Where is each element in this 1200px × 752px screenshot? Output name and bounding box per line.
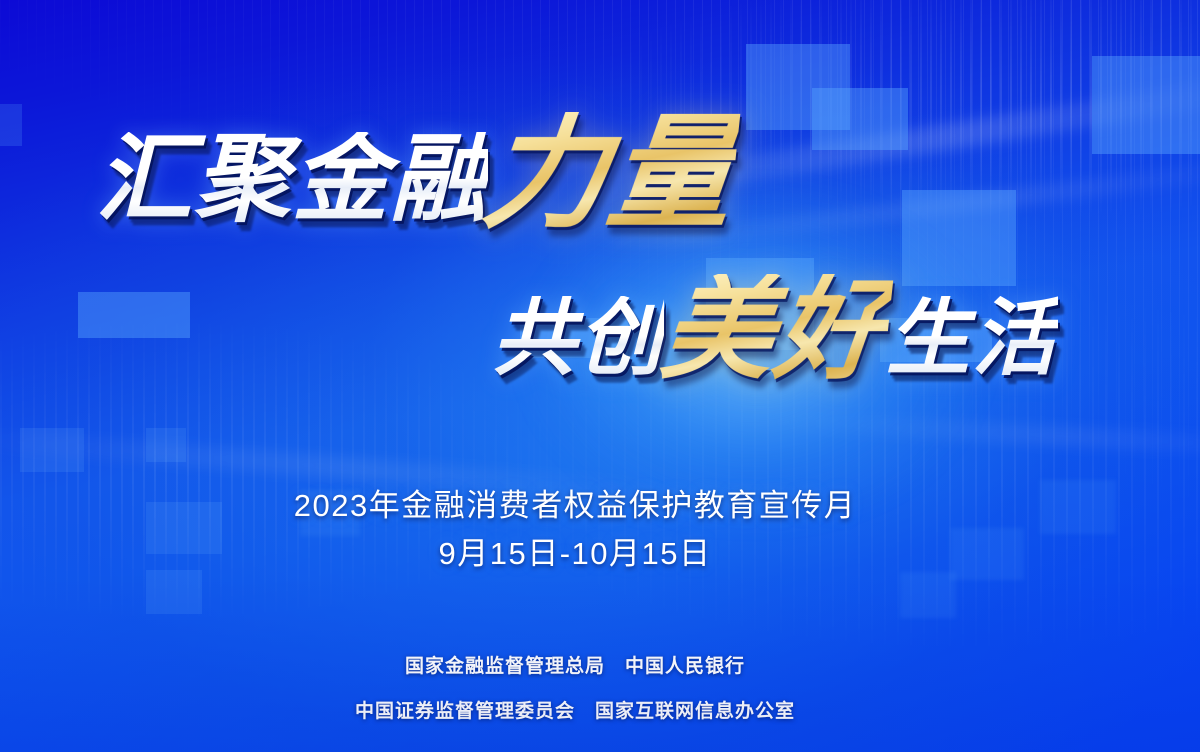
background-ribbon-sweep (760, 410, 1200, 459)
headline-line-1-gold-text: 力量 (477, 112, 740, 236)
background-square-block (0, 104, 22, 146)
headline-line-2-white-text-b: 生活 (886, 296, 1058, 380)
organizer-line-2: 中国证券监督管理委员会 国家互联网信息办公室 (0, 696, 1150, 723)
background-square-block (812, 88, 908, 150)
organizer-line-1: 国家金融监督管理总局 中国人民银行 (0, 651, 1150, 678)
background-square-block (20, 428, 84, 472)
headline-line-1-white-text: 汇聚金融 (96, 132, 488, 228)
background-square-block (900, 572, 956, 618)
headline-line-1: 汇聚金融 力量 (96, 104, 734, 228)
campaign-subtitle: 2023年金融消费者权益保护教育宣传月 (0, 480, 1150, 525)
background-square-block (146, 570, 202, 614)
background-square-block (78, 292, 190, 338)
headline-line-2: 共创 美好 生活 (492, 268, 1058, 380)
poster-canvas: 汇聚金融 力量 共创 美好 生活 2023年金融消费者权益保护教育宣传月 9月1… (0, 0, 1200, 752)
headline-line-2-gold-text: 美好 (656, 274, 894, 386)
background-square-block (746, 44, 850, 130)
background-square-block (1092, 56, 1200, 154)
campaign-date-range: 9月15日-10月15日 (0, 528, 1150, 573)
background-square-block (146, 428, 186, 462)
headline-line-2-white-text-a: 共创 (492, 296, 664, 380)
